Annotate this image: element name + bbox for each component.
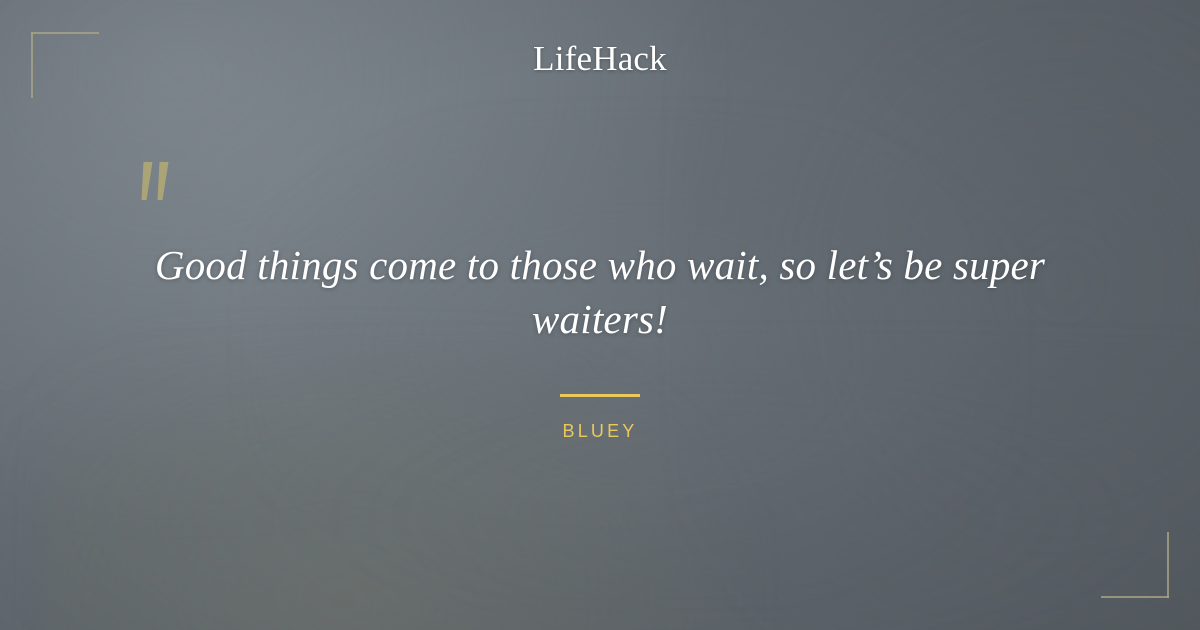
- corner-bracket-bottom-right-icon: [1101, 532, 1169, 598]
- quote-text: Good things come to those who wait, so l…: [150, 238, 1050, 346]
- corner-bracket-horizontal-rule: [1101, 596, 1169, 598]
- quotation-mark-icon: [131, 160, 187, 220]
- corner-bracket-horizontal-rule: [31, 32, 99, 34]
- quote-card: LifeHack Good things come to those who w…: [0, 0, 1200, 630]
- quote-divider: [560, 394, 640, 397]
- quote-author: BLUEY: [150, 421, 1050, 442]
- quote-block: Good things come to those who wait, so l…: [150, 238, 1050, 442]
- lifehack-logo: LifeHack: [0, 41, 1200, 76]
- corner-bracket-vertical-rule: [1167, 532, 1169, 598]
